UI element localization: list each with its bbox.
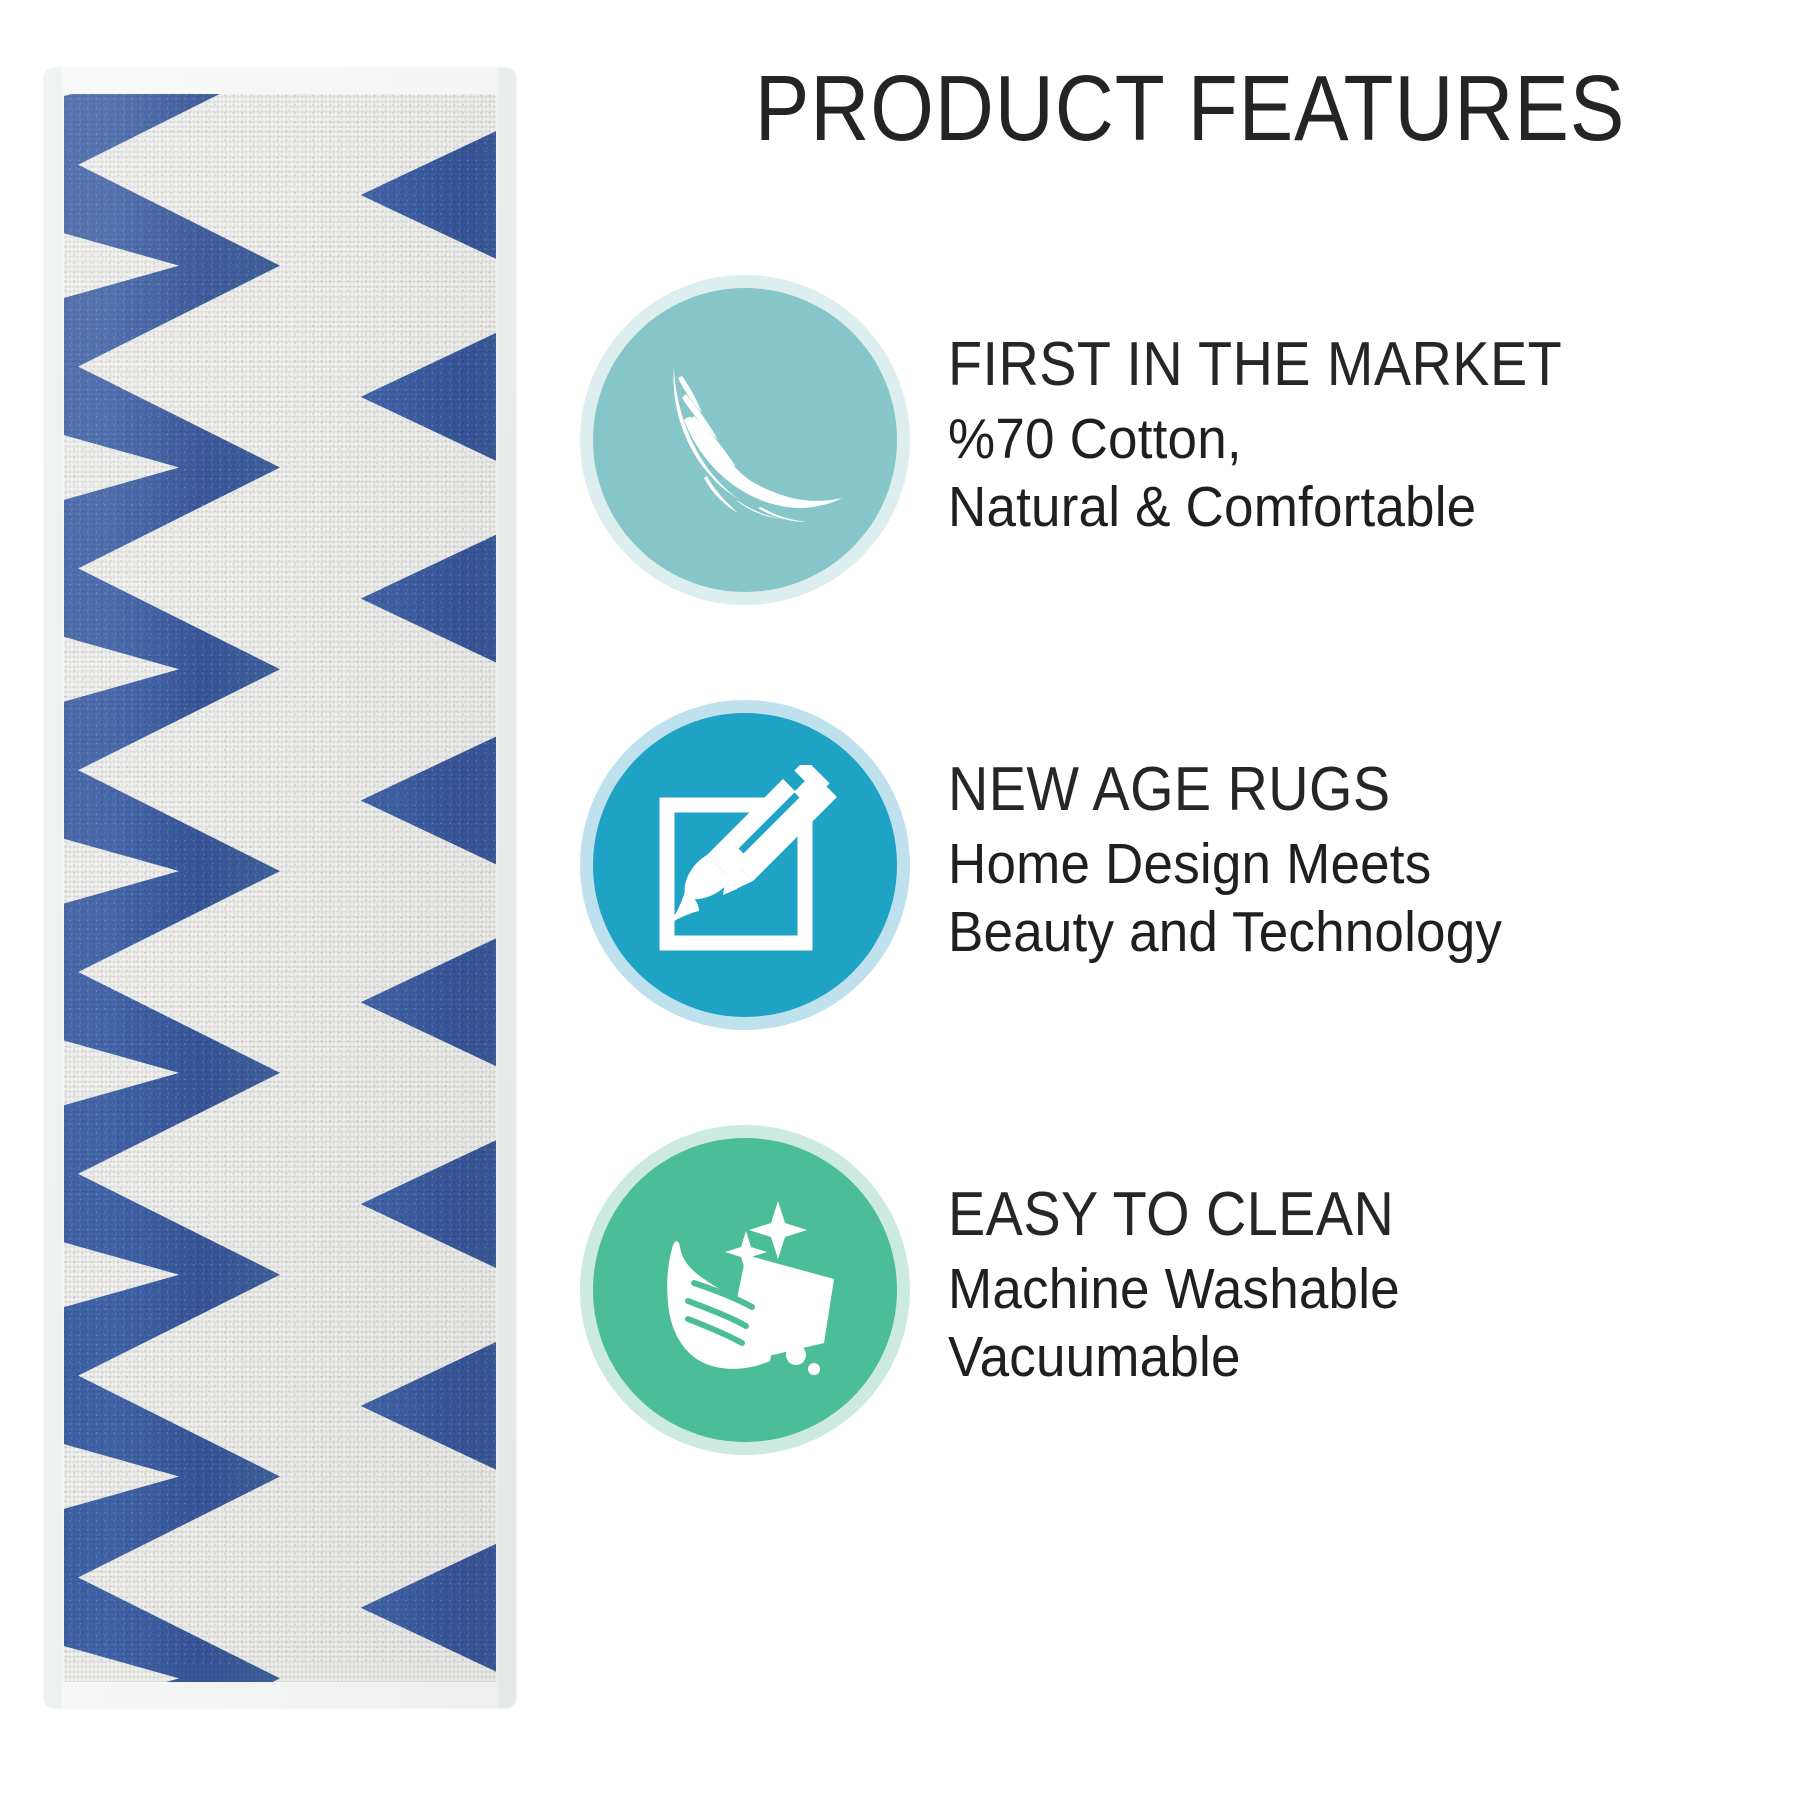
feature-row: NEW AGE RUGS Home Design Meets Beauty an… [580,700,1800,1030]
feature-text-block: NEW AGE RUGS Home Design Meets Beauty an… [910,758,1800,972]
rug-weave-area [64,94,496,1682]
infographic-page: PRODUCT FEATURES [0,0,1800,1800]
feature-text-block: EASY TO CLEAN Machine Washable Vacuumabl… [910,1183,1800,1397]
rug-frame [44,68,516,1708]
feature-subtitle-line: Natural & Comfortable [948,474,1740,541]
feature-title: NEW AGE RUGS [948,758,1715,821]
feather-icon [593,288,897,592]
page-title: PRODUCT FEATURES [671,62,1709,155]
feature-subtitle-line: Vacuumable [948,1324,1740,1391]
feature-title: EASY TO CLEAN [948,1183,1715,1246]
chevron-pattern [64,94,496,1682]
hand-cleaning-cloth-icon [593,1138,897,1442]
feature-text-block: FIRST IN THE MARKET %70 Cotton, Natural … [910,333,1800,547]
feature-row: EASY TO CLEAN Machine Washable Vacuumabl… [580,1125,1800,1455]
feature-icon-badge-first-in-the-market [580,275,910,605]
features-column: PRODUCT FEATURES [580,0,1800,1800]
feature-title: FIRST IN THE MARKET [948,333,1715,396]
feature-subtitle-line: Beauty and Technology [948,899,1740,966]
feature-subtitle-line: %70 Cotton, [948,406,1740,473]
design-tools-icon [593,713,897,1017]
feature-subtitle-line: Home Design Meets [948,831,1740,898]
feature-subtitle: Home Design Meets Beauty and Technology [948,831,1740,966]
feature-icon-badge-easy-to-clean [580,1125,910,1455]
product-image-rug [44,68,516,1708]
feature-subtitle: %70 Cotton, Natural & Comfortable [948,406,1740,541]
feature-icon-badge-new-age-rugs [580,700,910,1030]
feature-subtitle: Machine Washable Vacuumable [948,1256,1740,1391]
feature-subtitle-line: Machine Washable [948,1256,1740,1323]
feature-row: FIRST IN THE MARKET %70 Cotton, Natural … [580,275,1800,605]
